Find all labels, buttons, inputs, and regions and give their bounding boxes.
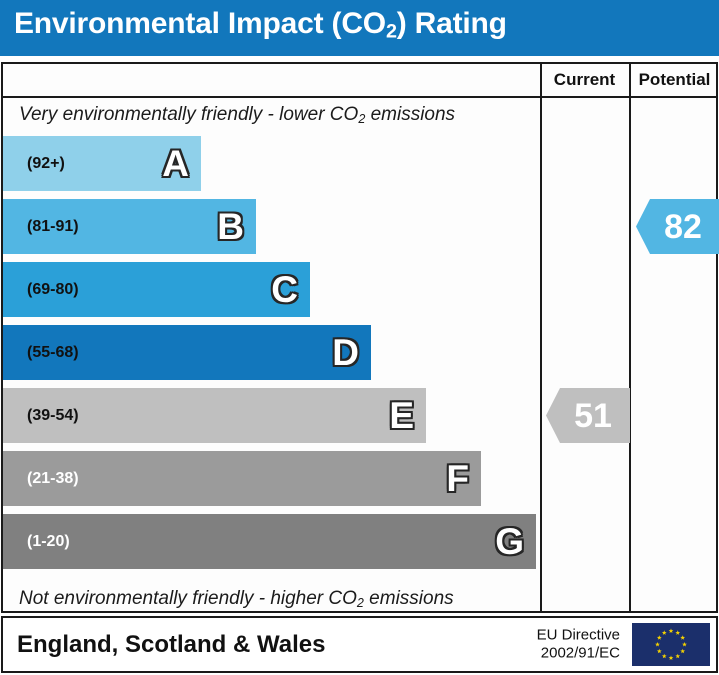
band-e-letter: E xyxy=(389,396,414,433)
title-prefix: Environmental Impact (CO xyxy=(14,7,386,40)
title-subscript: 2 xyxy=(386,20,397,42)
band-e: (39-54) E xyxy=(3,388,426,443)
band-b: (81-91) B xyxy=(3,199,256,254)
caption-bottom-suffix: emissions xyxy=(364,588,454,609)
footer-directive: EU Directive 2002/91/EC xyxy=(537,626,620,664)
footer-region-label: England, Scotland & Wales xyxy=(17,631,325,659)
band-d: (55-68) D xyxy=(3,325,371,380)
chart-title-bar: Environmental Impact (CO2) Rating xyxy=(0,0,719,56)
column-header-potential: Potential xyxy=(631,64,718,96)
band-c-range: (69-80) xyxy=(27,281,79,299)
caption-bottom-prefix: Not environmentally friendly - higher CO xyxy=(19,588,357,609)
band-b-range: (81-91) xyxy=(27,218,79,236)
eu-flag-icon xyxy=(632,623,710,666)
caption-bottom-subscript: 2 xyxy=(357,596,364,610)
band-f: (21-38) F xyxy=(3,451,481,506)
band-c-letter: C xyxy=(271,270,298,307)
caption-top: Very environmentally friendly - lower CO… xyxy=(3,98,540,131)
current-rating-arrow: 51 xyxy=(546,388,630,443)
band-d-letter: D xyxy=(332,333,359,370)
chart-footer: England, Scotland & Wales EU Directive 2… xyxy=(1,616,718,673)
column-divider-current xyxy=(540,64,542,611)
column-divider-potential xyxy=(629,64,631,611)
band-g: (1-20) G xyxy=(3,514,536,569)
band-d-range: (55-68) xyxy=(27,344,79,362)
column-header-current: Current xyxy=(540,64,629,96)
band-a-letter: A xyxy=(162,144,189,181)
band-a-range: (92+) xyxy=(27,155,65,173)
caption-top-prefix: Very environmentally friendly - lower CO xyxy=(19,104,358,125)
epc-environmental-impact-chart: Environmental Impact (CO2) Rating Curren… xyxy=(0,0,719,675)
band-g-range: (1-20) xyxy=(27,533,70,551)
page-title: Environmental Impact (CO2) Rating xyxy=(14,7,507,43)
bands-area: Very environmentally friendly - lower CO… xyxy=(3,98,540,611)
footer-directive-line2: 2002/91/EC xyxy=(537,645,620,664)
band-b-letter: B xyxy=(217,207,244,244)
caption-top-suffix: emissions xyxy=(365,104,455,125)
potential-rating-value: 82 xyxy=(654,210,702,244)
potential-rating-arrow: 82 xyxy=(636,199,719,254)
band-a: (92+) A xyxy=(3,136,201,191)
band-c: (69-80) C xyxy=(3,262,310,317)
band-g-letter: G xyxy=(495,522,524,559)
band-f-range: (21-38) xyxy=(27,470,79,488)
band-f-letter: F xyxy=(446,459,469,496)
current-rating-value: 51 xyxy=(564,399,612,433)
footer-directive-line1: EU Directive xyxy=(537,626,620,645)
band-e-range: (39-54) xyxy=(27,407,79,425)
column-header-row: Current Potential xyxy=(3,64,716,98)
ratings-table: Current Potential Very environmentally f… xyxy=(1,62,718,613)
caption-bottom: Not environmentally friendly - higher CO… xyxy=(3,582,540,615)
title-suffix: ) Rating xyxy=(397,7,507,40)
